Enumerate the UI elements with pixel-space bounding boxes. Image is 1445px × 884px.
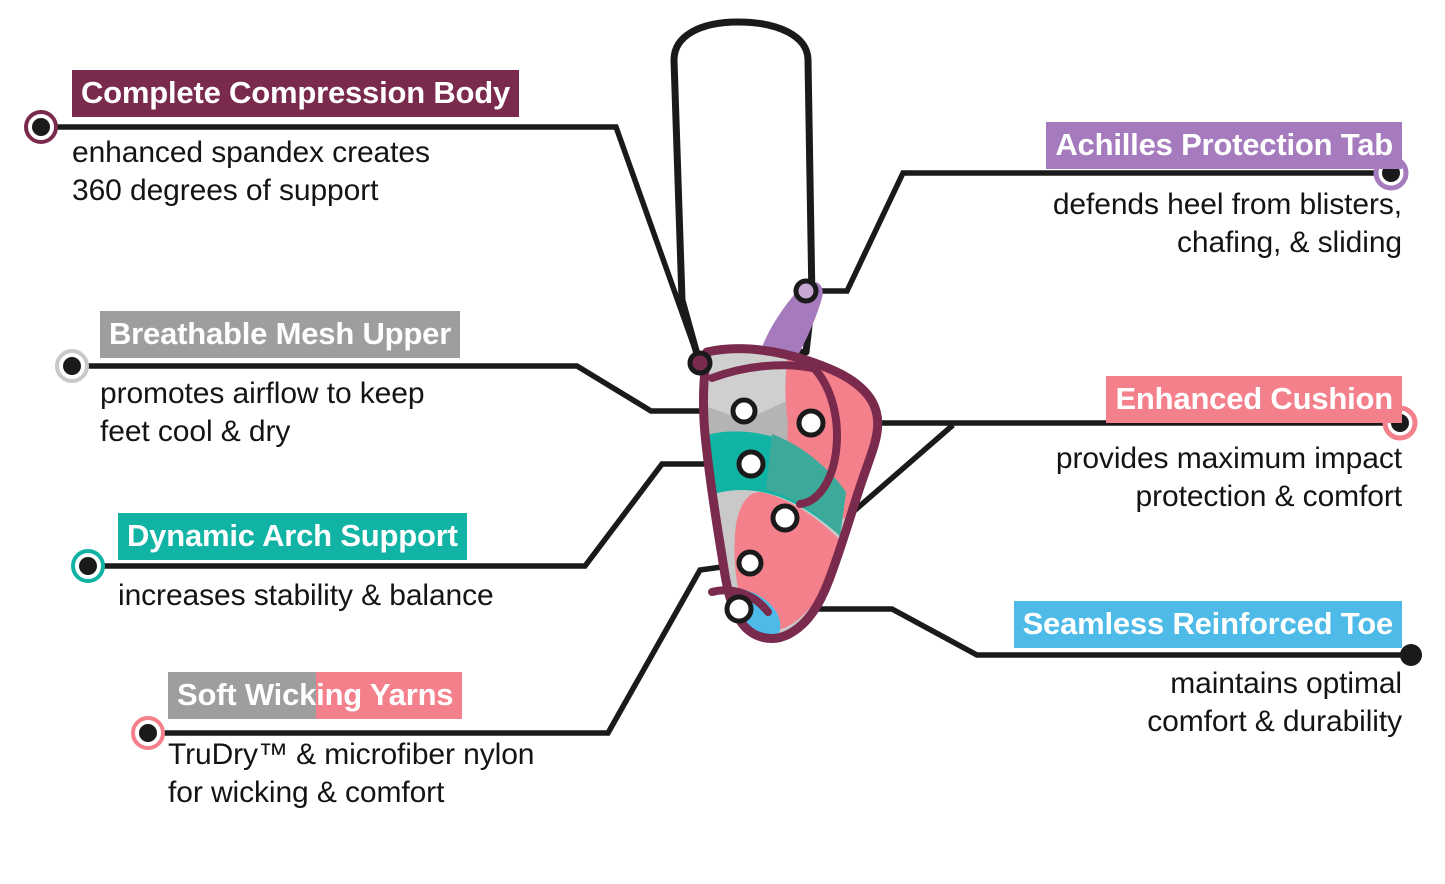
anchor-achilles (796, 281, 816, 301)
callout-soft-wicking-yarns: Soft Wicking Yarns TruDry™ & microfiber … (168, 672, 708, 812)
callout-breathable-mesh-upper: Breathable Mesh Upper promotes airflow t… (100, 311, 660, 451)
chip-complete-compression-body: Complete Compression Body (72, 70, 519, 117)
endpoint-arch (73, 551, 103, 581)
desc-enhanced-cushion: provides maximum impact protection & com… (842, 440, 1402, 516)
infographic-canvas: Complete Compression Body enhanced spand… (0, 0, 1445, 884)
anchor-toe (727, 597, 751, 621)
chip-soft-wicking-yarns: Soft Wicking Yarns (168, 672, 462, 719)
anchor-compression (690, 353, 710, 373)
callout-dynamic-arch-support: Dynamic Arch Support increases stability… (118, 513, 658, 615)
chip-achilles-protection-tab: Achilles Protection Tab (1046, 122, 1402, 169)
endpoint-yarns (133, 718, 163, 748)
desc-soft-wicking-yarns: TruDry™ & microfiber nylon for wicking &… (168, 736, 708, 812)
anchor-cushion-2 (773, 506, 797, 530)
desc-dynamic-arch-support: increases stability & balance (118, 577, 658, 615)
chip-soft-wicking-yarns-part2: ing Yarns (316, 672, 462, 719)
anchor-arch (739, 452, 763, 476)
desc-achilles-protection-tab: defends heel from blisters, chafing, & s… (782, 186, 1402, 262)
chip-breathable-mesh-upper: Breathable Mesh Upper (100, 311, 460, 358)
callout-achilles-protection-tab: Achilles Protection Tab defends heel fro… (782, 122, 1402, 262)
desc-breathable-mesh-upper: promotes airflow to keep feet cool & dry (100, 375, 660, 451)
callout-complete-compression-body: Complete Compression Body enhanced spand… (72, 70, 672, 210)
chip-seamless-reinforced-toe: Seamless Reinforced Toe (1014, 601, 1402, 648)
endpoint-mesh (57, 351, 87, 381)
callout-seamless-reinforced-toe: Seamless Reinforced Toe maintains optima… (842, 601, 1402, 741)
anchor-yarns (739, 552, 761, 574)
desc-complete-compression-body: enhanced spandex creates 360 degrees of … (72, 134, 672, 210)
callout-enhanced-cushion: Enhanced Cushion provides maximum impact… (842, 376, 1402, 516)
chip-dynamic-arch-support: Dynamic Arch Support (118, 513, 467, 560)
desc-seamless-reinforced-toe: maintains optimal comfort & durability (842, 665, 1402, 741)
chip-soft-wicking-yarns-part1: Soft Wick (168, 672, 316, 719)
anchor-mesh (733, 400, 755, 422)
anchor-cushion (799, 411, 823, 435)
chip-enhanced-cushion: Enhanced Cushion (1106, 376, 1402, 423)
endpoint-toe (1400, 644, 1422, 666)
endpoint-compression (26, 112, 56, 142)
